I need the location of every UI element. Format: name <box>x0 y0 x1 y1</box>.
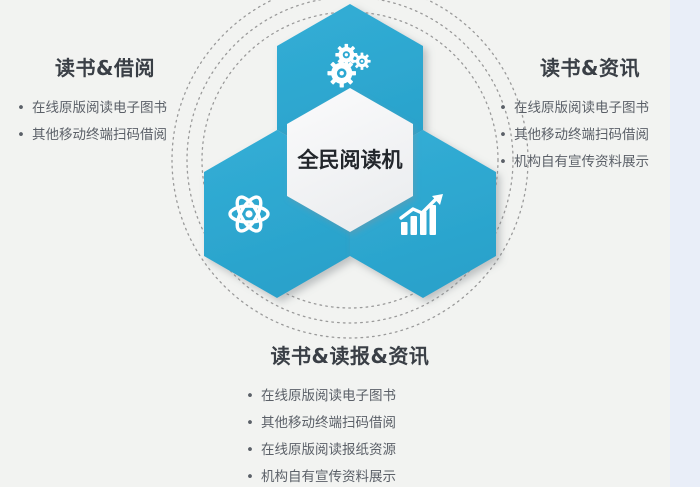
feature-heading-right: 读书&资讯 <box>490 52 690 81</box>
bullet-icon: • <box>246 464 254 487</box>
feature-block-bottom: 读书&读报&资讯 • 在线原版阅读电子图书 • 其他移动终端扫码借阅 • 在线原… <box>205 340 495 487</box>
list-item: • 其他移动终端扫码借阅 <box>496 122 690 149</box>
slide-canvas: 全民阅读机 读书&借阅 • 在线原版阅读电子图书 • 其他移动终端扫码借阅 读书… <box>0 0 700 487</box>
feature-list-right: • 在线原版阅读电子图书 • 其他移动终端扫码借阅 • 机构自有宣传资料展示 <box>490 95 690 176</box>
bullet-icon: • <box>17 95 25 122</box>
bullet-icon: • <box>499 95 507 122</box>
list-item-label: 其他移动终端扫码借阅 <box>514 127 649 143</box>
list-item-label: 机构自有宣传资料展示 <box>514 154 649 170</box>
feature-block-right: 读书&资讯 • 在线原版阅读电子图书 • 其他移动终端扫码借阅 • 机构自有宣传… <box>490 52 690 176</box>
list-item-label: 其他移动终端扫码借阅 <box>32 127 167 143</box>
feature-heading-left: 读书&借阅 <box>0 52 210 81</box>
list-item-label: 在线原版阅读电子图书 <box>261 388 396 404</box>
list-item: • 在线原版阅读电子图书 <box>14 95 210 122</box>
list-item: • 其他移动终端扫码借阅 <box>243 410 495 437</box>
feature-heading-bottom: 读书&读报&资讯 <box>205 340 495 369</box>
list-item-label: 机构自有宣传资料展示 <box>261 469 396 485</box>
list-item-label: 在线原版阅读电子图书 <box>514 100 649 116</box>
bullet-icon: • <box>499 122 507 149</box>
feature-list-bottom: • 在线原版阅读电子图书 • 其他移动终端扫码借阅 • 在线原版阅读报纸资源 •… <box>205 383 495 487</box>
list-item: • 在线原版阅读电子图书 <box>243 383 495 410</box>
list-item: • 其他移动终端扫码借阅 <box>14 122 210 149</box>
bullet-icon: • <box>246 383 254 410</box>
list-item: • 机构自有宣传资料展示 <box>243 464 495 487</box>
bullet-icon: • <box>17 122 25 149</box>
center-label: 全民阅读机 <box>297 148 403 172</box>
bullet-icon: • <box>246 410 254 437</box>
list-item-label: 在线原版阅读电子图书 <box>32 100 167 116</box>
list-item: • 在线原版阅读电子图书 <box>496 95 690 122</box>
list-item: • 机构自有宣传资料展示 <box>496 149 690 176</box>
list-item: • 在线原版阅读报纸资源 <box>243 437 495 464</box>
bullet-icon: • <box>499 149 507 176</box>
bullet-icon: • <box>246 437 254 464</box>
list-item-label: 在线原版阅读报纸资源 <box>261 442 396 458</box>
feature-block-left: 读书&借阅 • 在线原版阅读电子图书 • 其他移动终端扫码借阅 <box>0 52 210 149</box>
feature-list-left: • 在线原版阅读电子图书 • 其他移动终端扫码借阅 <box>0 95 210 149</box>
list-item-label: 其他移动终端扫码借阅 <box>261 415 396 431</box>
